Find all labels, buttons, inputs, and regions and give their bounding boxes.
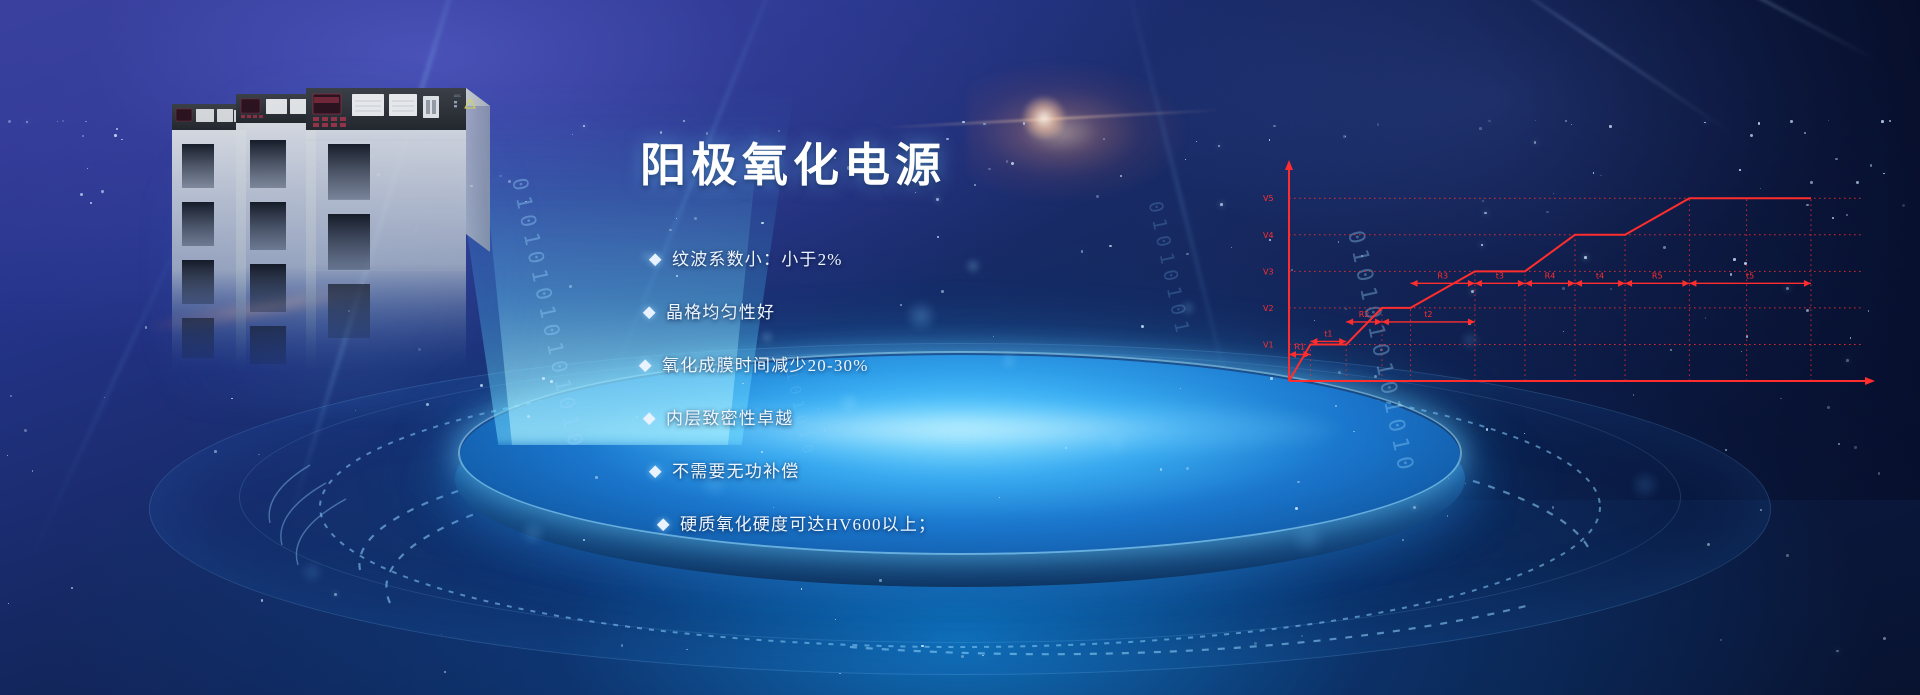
feature-text: 不需要无功补偿	[672, 457, 799, 482]
diamond-bullet-icon	[643, 306, 656, 319]
feature-text: 硬质氧化硬度可达HV600以上；	[680, 510, 936, 535]
svg-text:V1: V1	[1263, 340, 1274, 349]
lens-flare-core-icon	[1022, 96, 1066, 140]
svg-text:V5: V5	[1263, 194, 1274, 203]
feature-text: 纹波系数小：小于2%	[672, 245, 843, 270]
svg-text:t3: t3	[1496, 271, 1504, 280]
svg-text:V4: V4	[1263, 231, 1274, 240]
list-item: 不需要无功补偿	[650, 457, 1260, 482]
svg-text:V3: V3	[1263, 267, 1274, 276]
feature-text: 晶格均匀性好	[666, 298, 775, 323]
svg-text:t1: t1	[1324, 329, 1332, 338]
svg-text:R4: R4	[1545, 271, 1556, 280]
svg-text:V2: V2	[1263, 304, 1274, 313]
svg-text:R2: R2	[1359, 310, 1370, 319]
list-item: 内层致密性卓越	[644, 404, 1260, 429]
content-block: 阳极氧化电源 纹波系数小：小于2% 晶格均匀性好 氧化成膜时间减少20-30% …	[640, 140, 1260, 563]
list-item: 氧化成膜时间减少20-30%	[640, 351, 1260, 376]
banner-root: 010101010101010 01010101 0101010101010 0…	[0, 0, 1920, 695]
svg-text:t4: t4	[1596, 271, 1604, 280]
svg-text:t5: t5	[1746, 271, 1754, 280]
feature-text: 氧化成膜时间减少20-30%	[662, 351, 869, 376]
svg-text:t2: t2	[1424, 310, 1432, 319]
feature-list: 纹波系数小：小于2% 晶格均匀性好 氧化成膜时间减少20-30% 内层致密性卓越…	[640, 245, 1260, 535]
diamond-bullet-icon	[657, 518, 670, 531]
equipment-cabinets: ABC	[170, 82, 500, 382]
svg-text:ABC: ABC	[454, 94, 462, 98]
diamond-bullet-icon	[649, 253, 662, 266]
feature-text: 内层致密性卓越	[666, 404, 793, 429]
diamond-bullet-icon	[639, 359, 652, 372]
cabinet-right: ABC	[306, 88, 490, 372]
list-item: 硬质氧化硬度可达HV600以上；	[658, 510, 1260, 535]
svg-text:R3: R3	[1437, 271, 1448, 280]
svg-text:R1: R1	[1294, 342, 1305, 351]
list-item: 纹波系数小：小于2%	[650, 245, 1260, 270]
svg-text:R5: R5	[1652, 271, 1663, 280]
voltage-ramp-chart: V1V2V3V4V5R1t1R2t2R3t3R4t4R5t5	[1255, 155, 1875, 415]
cabinet-middle	[236, 94, 316, 372]
diamond-bullet-icon	[649, 465, 662, 478]
cabinet-left	[172, 104, 246, 372]
diamond-bullet-icon	[643, 412, 656, 425]
list-item: 晶格均匀性好	[644, 298, 1260, 323]
page-title: 阳极氧化电源	[640, 140, 1260, 191]
